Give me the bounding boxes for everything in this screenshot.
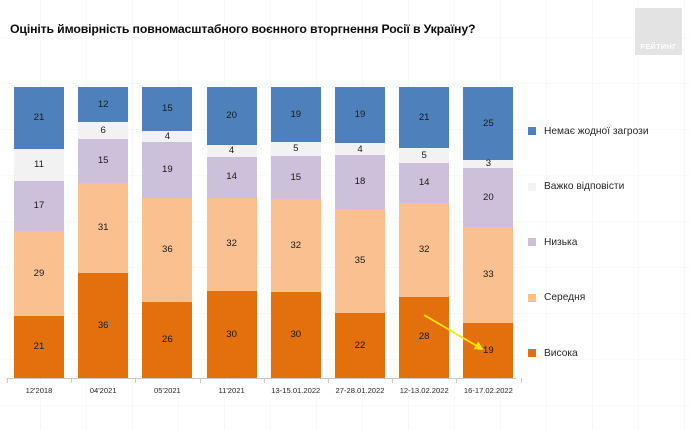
bar-segment-value: 11 [34, 160, 44, 170]
bar-segment-value: 18 [355, 177, 366, 187]
bar-segment-value: 15 [98, 156, 109, 166]
legend-item-label: Низька [544, 237, 577, 248]
bar-segment[interactable]: 6 [78, 122, 128, 139]
bar-segment[interactable]: 30 [271, 292, 321, 378]
bar-segment[interactable]: 17 [14, 181, 64, 231]
x-axis-tick [521, 378, 522, 383]
bar-segment-value: 14 [226, 172, 237, 182]
bar-segment[interactable]: 28 [399, 297, 449, 378]
bar-segment-value: 15 [162, 104, 173, 114]
bar-column[interactable]: 2111172921 [14, 87, 64, 378]
bar-segment[interactable]: 15 [142, 87, 192, 131]
legend-item-label: Середня [544, 292, 585, 303]
bar-segment-value: 14 [419, 178, 430, 188]
bar-segment-value: 19 [483, 346, 494, 356]
bar-segment[interactable]: 19 [271, 87, 321, 142]
legend-item-high[interactable]: Висока [528, 347, 578, 359]
bar-segment-value: 31 [98, 223, 109, 233]
legend-swatch-icon [528, 238, 536, 246]
bar-segment-value: 32 [226, 239, 237, 249]
bar-segment-value: 5 [293, 144, 298, 154]
x-axis-tick [456, 378, 457, 383]
bar-segment[interactable]: 14 [399, 163, 449, 204]
legend-swatch-icon [528, 349, 536, 357]
bar-column[interactable]: 194183522 [335, 87, 385, 378]
x-axis-line [6, 378, 516, 379]
chart-plot: 2111172921126153136154193626204143230195… [0, 75, 690, 430]
legend-item-none[interactable]: Немає жодної загрози [528, 125, 649, 137]
legend-item-hard[interactable]: Важко відповісти [528, 181, 624, 193]
bar-segment-value: 15 [290, 173, 301, 183]
bar-segment[interactable]: 21 [14, 87, 64, 149]
bar-segment[interactable]: 21 [399, 87, 449, 148]
bar-segment[interactable]: 11 [14, 149, 64, 181]
bar-segment[interactable]: 4 [142, 131, 192, 143]
chart-legend: Немає жодної загрозиВажко відповістиНизь… [528, 75, 690, 430]
bar-segment[interactable]: 5 [399, 148, 449, 163]
bar-segment-value: 36 [98, 321, 109, 331]
bar-segment[interactable]: 36 [142, 198, 192, 303]
bar-column[interactable]: 126153136 [78, 87, 128, 378]
bar-segment[interactable]: 26 [142, 302, 192, 378]
bar-segment[interactable]: 32 [399, 203, 449, 296]
bar-segment[interactable]: 25 [463, 87, 513, 160]
bar-segment-value: 6 [101, 126, 106, 136]
bar-segment-value: 32 [290, 241, 301, 251]
bar-column[interactable]: 204143230 [207, 87, 257, 378]
bar-segment[interactable]: 5 [271, 142, 321, 156]
bar-segment[interactable]: 3 [463, 160, 513, 169]
bar-segment-value: 28 [419, 332, 430, 342]
bar-segment[interactable]: 14 [207, 157, 257, 198]
bar-segment[interactable]: 33 [463, 227, 513, 323]
x-axis-tick [135, 378, 136, 383]
bar-segment-value: 33 [483, 270, 494, 280]
bar-segment[interactable]: 15 [271, 156, 321, 199]
bar-segment-value: 19 [162, 165, 173, 175]
bar-segment[interactable]: 20 [207, 87, 257, 145]
bar-column[interactable]: 253203319 [463, 87, 513, 378]
x-axis-tick [200, 378, 201, 383]
x-axis-tick [328, 378, 329, 383]
chart-header: Оцініть ймовірність повномасштабного воє… [0, 0, 690, 62]
bar-segment[interactable]: 29 [14, 231, 64, 316]
bar-segment-value: 5 [422, 151, 427, 161]
chart-page: Оцініть ймовірність повномасштабного воє… [0, 0, 690, 430]
bar-segment[interactable]: 19 [463, 323, 513, 378]
bar-segment-value: 4 [165, 132, 170, 142]
legend-item-label: Важко відповісти [544, 181, 624, 192]
bar-segment-value: 25 [483, 119, 494, 129]
bar-segment[interactable]: 35 [335, 209, 385, 313]
bar-segment-value: 20 [226, 111, 237, 121]
legend-item-low[interactable]: Низька [528, 236, 577, 248]
brand-logo: РЕЙТИНГ [635, 8, 682, 55]
bar-segment-value: 29 [34, 269, 45, 279]
bar-segment[interactable]: 32 [271, 199, 321, 291]
bar-segment[interactable]: 19 [335, 87, 385, 143]
legend-swatch-icon [528, 127, 536, 135]
x-axis-tick [392, 378, 393, 383]
bar-column[interactable]: 215143228 [399, 87, 449, 378]
bar-segment-value: 21 [419, 113, 430, 123]
bar-column[interactable]: 154193626 [142, 87, 192, 378]
legend-item-label: Висока [544, 348, 578, 359]
bar-segment[interactable]: 31 [78, 183, 128, 273]
legend-item-label: Немає жодної загрози [544, 126, 649, 137]
legend-item-mid[interactable]: Середня [528, 292, 585, 304]
bar-segment-value: 30 [226, 330, 237, 340]
bar-segment-value: 36 [162, 245, 173, 255]
bar-segment-value: 19 [290, 110, 301, 120]
bar-segment[interactable]: 20 [463, 168, 513, 226]
bar-segment-value: 32 [419, 245, 430, 255]
x-axis-tick [264, 378, 265, 383]
bar-segment[interactable]: 32 [207, 198, 257, 291]
legend-swatch-icon [528, 183, 536, 191]
bar-segment[interactable]: 4 [207, 145, 257, 157]
x-axis-tick [7, 378, 8, 383]
bar-segment-value: 21 [34, 342, 45, 352]
bar-segment[interactable]: 30 [207, 291, 257, 378]
bar-segment[interactable]: 4 [335, 143, 385, 155]
page-title: Оцініть ймовірність повномасштабного воє… [10, 22, 475, 36]
bar-segment-value: 4 [357, 145, 362, 155]
bar-segment-value: 12 [98, 100, 109, 110]
bar-segment-value: 35 [355, 256, 366, 266]
brand-logo-label: РЕЙТИНГ [640, 42, 676, 55]
bar-column[interactable]: 195153230 [271, 87, 321, 378]
bar-segment-value: 26 [162, 335, 173, 345]
bar-segment[interactable]: 19 [142, 142, 192, 197]
bar-segment[interactable]: 36 [78, 273, 128, 378]
bar-segment-value: 3 [486, 159, 491, 169]
bar-segment-value: 17 [34, 201, 45, 211]
bar-segment[interactable]: 21 [14, 316, 64, 378]
bar-segment-value: 21 [34, 113, 45, 123]
bar-segment[interactable]: 18 [335, 155, 385, 208]
stacked-bar-plot-area: 2111172921126153136154193626204143230195… [6, 87, 514, 378]
bar-segment-value: 4 [229, 146, 234, 156]
bar-segment[interactable]: 15 [78, 139, 128, 183]
x-axis-tick [71, 378, 72, 383]
bar-segment[interactable]: 22 [335, 313, 385, 378]
bar-segment-value: 19 [355, 110, 366, 120]
bar-segment-value: 22 [355, 341, 366, 351]
x-axis-category-label: 16-17.02.2022 [448, 386, 528, 395]
bar-segment[interactable]: 12 [78, 87, 128, 122]
legend-swatch-icon [528, 294, 536, 302]
bar-segment-value: 30 [290, 330, 301, 340]
bar-segment-value: 20 [483, 193, 494, 203]
